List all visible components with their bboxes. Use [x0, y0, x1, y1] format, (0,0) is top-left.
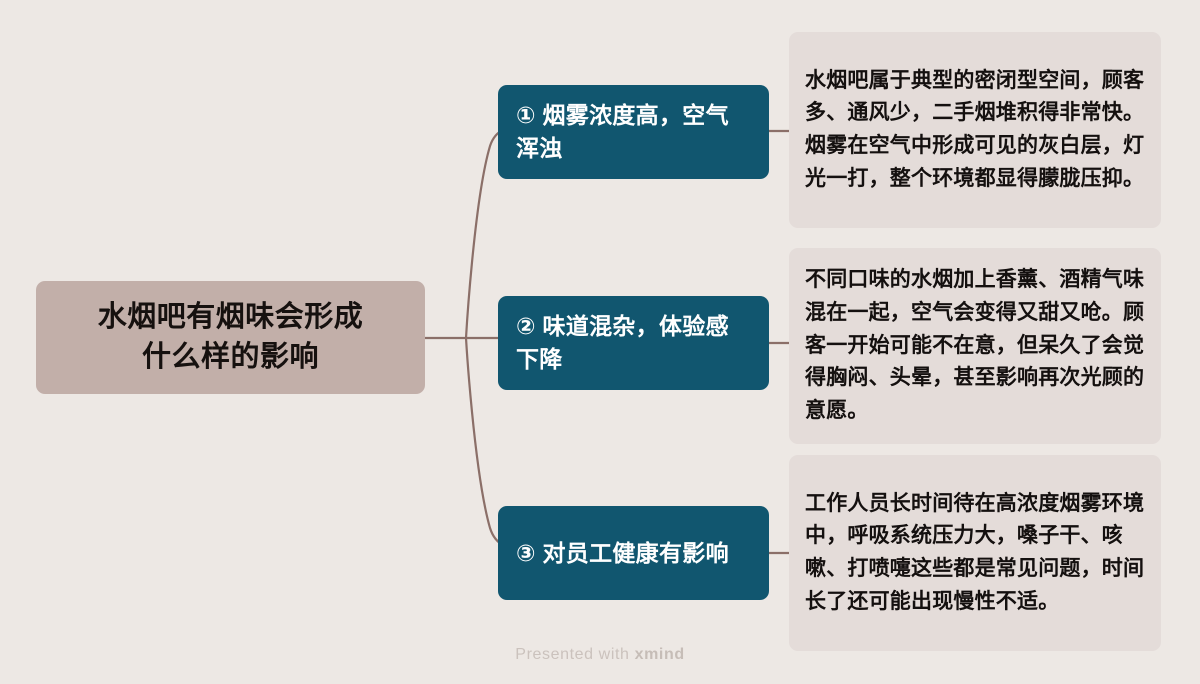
branch-node-1[interactable]: ① 烟雾浓度高，空气浑浊 [498, 85, 769, 179]
detail-node-1-text: 水烟吧属于典型的密闭型空间，顾客多、通风少，二手烟堆积得非常快。烟雾在空气中形成… [789, 51, 1161, 210]
detail-node-1[interactable]: 水烟吧属于典型的密闭型空间，顾客多、通风少，二手烟堆积得非常快。烟雾在空气中形成… [789, 32, 1161, 228]
branch-node-3-label: ③ 对员工健康有影响 [498, 537, 747, 570]
detail-node-2-text: 不同口味的水烟加上香薰、酒精气味混在一起，空气会变得又甜又呛。顾客一开始可能不在… [789, 250, 1161, 442]
detail-node-3-text: 工作人员长时间待在高浓度烟雾环境中，呼吸系统压力大，嗓子干、咳嗽、打喷嚏这些都是… [789, 474, 1161, 633]
root-topic-label: 水烟吧有烟味会形成 什么样的影响 [98, 298, 364, 376]
detail-node-2[interactable]: 不同口味的水烟加上香薰、酒精气味混在一起，空气会变得又甜又呛。顾客一开始可能不在… [789, 248, 1161, 444]
branch-node-1-label: ① 烟雾浓度高，空气浑浊 [498, 99, 769, 164]
detail-node-3[interactable]: 工作人员长时间待在高浓度烟雾环境中，呼吸系统压力大，嗓子干、咳嗽、打喷嚏这些都是… [789, 455, 1161, 651]
branch-node-3[interactable]: ③ 对员工健康有影响 [498, 506, 769, 600]
root-topic-line-2: 什么样的影响 [142, 341, 319, 373]
watermark-prefix: Presented with [515, 646, 634, 663]
xmind-watermark: Presented with xmind [0, 646, 1200, 664]
root-topic-node[interactable]: 水烟吧有烟味会形成 什么样的影响 [36, 281, 425, 394]
branch-node-2[interactable]: ② 味道混杂，体验感下降 [498, 296, 769, 390]
branch-node-2-label: ② 味道混杂，体验感下降 [498, 310, 769, 375]
watermark-brand: xmind [635, 646, 685, 663]
mindmap-canvas: 水烟吧有烟味会形成 什么样的影响 ① 烟雾浓度高，空气浑浊 ② 味道混杂，体验感… [0, 0, 1200, 684]
root-topic-line-1: 水烟吧有烟味会形成 [98, 301, 364, 333]
